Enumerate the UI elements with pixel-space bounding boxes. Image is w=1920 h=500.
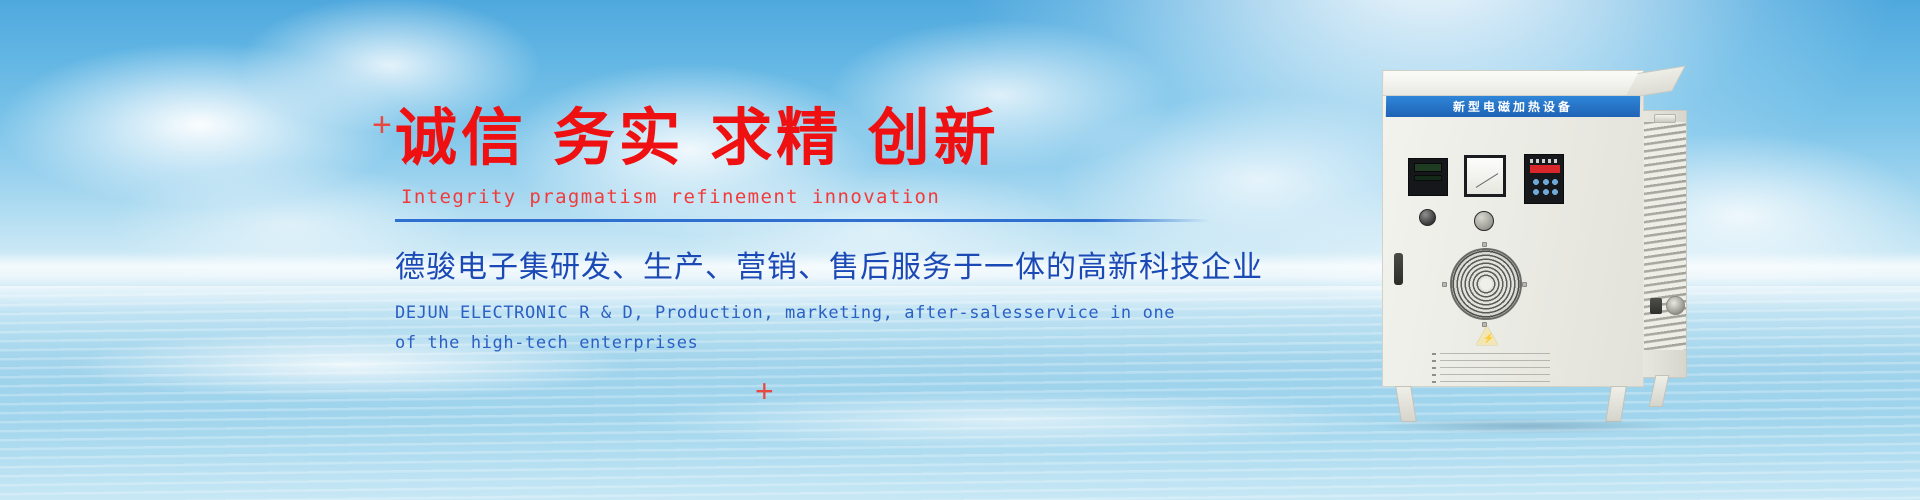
banner-text-block: 诚信 务实 求精 创新 Integrity pragmatism refinem… [395, 105, 1255, 359]
machine-knob-icon [1474, 211, 1494, 231]
company-description-english-line-1: DEJUN ELECTRONIC R & D, Production, mark… [395, 299, 1255, 329]
machine-port-icon [1666, 296, 1685, 315]
machine-side-louvers [1644, 122, 1686, 350]
machine-fan-icon [1450, 248, 1522, 320]
machine-leg [1395, 386, 1417, 422]
machine-keypad-red-display [1530, 165, 1560, 173]
machine-name-label: 新型电磁加热设备 [1386, 96, 1640, 117]
company-description-english-line-2: of the high-tech enterprises [395, 329, 1255, 359]
machine-knob-icon [1419, 209, 1436, 226]
machine-analog-gauge-icon [1464, 155, 1506, 197]
machine-top-panel [1382, 70, 1644, 96]
promo-banner: + + 诚信 务实 求精 创新 Integrity pragmatism ref… [0, 0, 1920, 500]
machine-keypad-icon [1524, 154, 1564, 204]
divider-line [395, 219, 1210, 222]
machine-keypad-leds [1530, 159, 1560, 163]
machine-leg [1605, 386, 1627, 422]
plus-decoration-icon: + [755, 375, 774, 407]
machine-fan-screw [1442, 282, 1447, 287]
product-machine-image: 新型电磁加热设备 [1372, 70, 1692, 430]
machine-leg [1649, 375, 1670, 407]
water-glint [640, 390, 1380, 450]
machine-handle [1654, 114, 1676, 123]
machine-lower-vent [1650, 298, 1662, 314]
warning-triangle-icon [1476, 326, 1498, 345]
headline-slogan-english: Integrity pragmatism refinement innovati… [401, 186, 1255, 208]
machine-digital-display-icon [1408, 158, 1448, 196]
plus-decoration-icon: + [372, 108, 392, 142]
company-description-chinese: 德骏电子集研发、生产、营销、售后服务于一体的高新科技企业 [395, 242, 1255, 286]
headline-slogan: 诚信 务实 求精 创新 [395, 105, 1255, 170]
machine-fan-screw [1482, 242, 1487, 247]
machine-front-panel [1382, 95, 1644, 387]
machine-keypad-buttons [1531, 178, 1559, 200]
machine-spec-text [1440, 353, 1550, 387]
company-description-english: DEJUN ELECTRONIC R & D, Production, mark… [395, 299, 1255, 359]
machine-front-slot [1394, 253, 1403, 285]
machine-shadow [1378, 418, 1678, 434]
machine-fan-screw [1522, 282, 1527, 287]
machine-spec-bullets [1432, 353, 1436, 387]
